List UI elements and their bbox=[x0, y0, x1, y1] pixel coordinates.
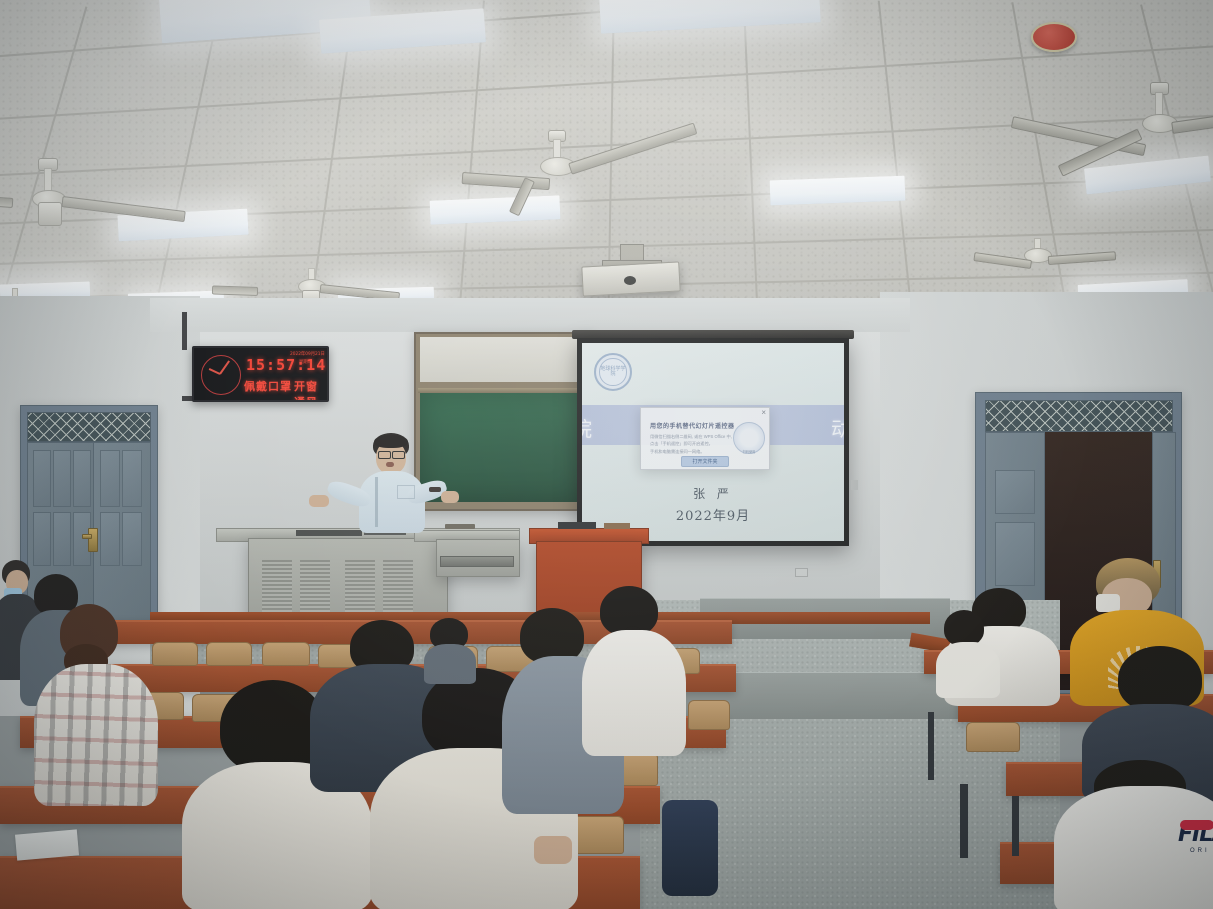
ceiling-light-panel bbox=[319, 8, 486, 53]
audience-member: FILA ORI bbox=[1038, 760, 1213, 909]
console-vent bbox=[383, 560, 413, 618]
chair-leg bbox=[1012, 796, 1019, 856]
ceiling-light-panel bbox=[117, 209, 248, 242]
door-handle-icon[interactable] bbox=[88, 528, 98, 552]
console-vent bbox=[300, 560, 330, 618]
torso bbox=[582, 630, 686, 756]
close-icon[interactable]: × bbox=[761, 409, 766, 417]
dialog-title: 用您的手机替代幻灯片遥控器 bbox=[650, 421, 735, 430]
lattice-grille-icon bbox=[986, 401, 1172, 431]
qr-code-icon[interactable]: 扫码使用 bbox=[733, 422, 765, 454]
ceiling-light-panel bbox=[770, 176, 906, 206]
face-mask-icon bbox=[1096, 594, 1120, 612]
door-panel bbox=[33, 450, 51, 507]
door-panel bbox=[122, 512, 142, 566]
door-panel bbox=[53, 512, 71, 566]
led-mount-arm bbox=[182, 312, 187, 350]
lectern-monitor bbox=[558, 522, 596, 529]
chair-leg bbox=[928, 712, 934, 780]
screen-bracket bbox=[851, 480, 858, 490]
wps-notice-dialog[interactable]: × 用您的手机替代幻灯片遥控器 用微信扫描右侧二维码, 或在 WPS Offic… bbox=[640, 407, 770, 470]
ceiling-light-panel bbox=[430, 195, 561, 224]
backpack bbox=[662, 800, 718, 896]
hair bbox=[1118, 646, 1202, 712]
door-panel bbox=[33, 512, 51, 566]
hand bbox=[534, 836, 572, 864]
chair-leg bbox=[960, 784, 968, 858]
door-left-transom bbox=[27, 412, 151, 442]
audience-member bbox=[34, 604, 154, 804]
door-panel bbox=[100, 512, 120, 566]
console-vent bbox=[345, 560, 375, 618]
door-panel bbox=[122, 450, 142, 507]
door-right-transom bbox=[985, 400, 1173, 432]
led-time: 15:57:14 bbox=[246, 356, 326, 374]
chalkboard-upper-panel bbox=[420, 337, 584, 382]
dialog-body-line-3: 手机和电脑需连接同一网络。 bbox=[650, 449, 732, 456]
speaker-mouth bbox=[386, 462, 394, 467]
podium-drawer[interactable] bbox=[440, 556, 514, 567]
led-date: 2022年09月21日 bbox=[290, 351, 325, 357]
slide-date: 2022年9月 bbox=[582, 505, 844, 524]
chair-back[interactable] bbox=[966, 722, 1020, 752]
audience-member bbox=[576, 586, 686, 761]
university-seal-icon: 地球科学学院 bbox=[594, 353, 632, 391]
door-panel bbox=[995, 522, 1035, 586]
audience-member bbox=[424, 618, 474, 678]
wristwatch-icon bbox=[429, 487, 441, 492]
speaker-at-podium bbox=[345, 433, 441, 538]
led-information-board: 15:57:14 2022年09月21日 星期三 佩戴口罩 开窗通风 bbox=[192, 346, 329, 402]
fila-logo-bar bbox=[1180, 820, 1213, 830]
chair-back[interactable] bbox=[206, 642, 252, 666]
door-latch-icon[interactable] bbox=[82, 534, 92, 539]
door-panel bbox=[53, 450, 71, 507]
torso bbox=[424, 644, 476, 684]
console-vent bbox=[262, 560, 292, 618]
wall-strip bbox=[150, 298, 910, 332]
torso bbox=[936, 642, 1000, 698]
chair-back[interactable] bbox=[688, 700, 730, 730]
dialog-body-line-2: 点击「手机遥控」即可开启遥控。 bbox=[650, 441, 732, 448]
torso-graphic-shirt bbox=[34, 664, 158, 806]
door-panel bbox=[100, 450, 120, 507]
glasses-icon bbox=[378, 451, 391, 459]
glasses-icon bbox=[392, 451, 405, 459]
chair-back[interactable] bbox=[262, 642, 310, 666]
door-panel bbox=[995, 470, 1035, 514]
chair-back[interactable] bbox=[152, 642, 198, 666]
lattice-grille-icon bbox=[28, 413, 150, 441]
door-panel bbox=[73, 450, 91, 507]
speaker-hand-right bbox=[441, 491, 459, 503]
led-weekday: 星期三 bbox=[299, 359, 312, 365]
shirt-placket bbox=[375, 477, 378, 527]
desk-item bbox=[445, 524, 475, 529]
slide-presenter-name: 张 严 bbox=[582, 485, 844, 502]
hair bbox=[944, 610, 984, 646]
fire-alarm-icon bbox=[1031, 22, 1077, 52]
lectern-item bbox=[604, 523, 630, 529]
fila-logo-sub: ORI bbox=[1190, 848, 1210, 854]
ceiling-tile-grid bbox=[0, 0, 1213, 330]
ceiling-tile-texture bbox=[0, 0, 1213, 330]
seal-inner-ring: 地球科学学院 bbox=[599, 358, 626, 385]
paper-sheet bbox=[15, 829, 79, 860]
dialog-body-line-1: 用微信扫描右侧二维码, 或在 WPS Office 中, bbox=[650, 434, 732, 441]
open-folder-button[interactable]: 打开文件夹 bbox=[681, 456, 729, 467]
seal-text: 地球科学学院 bbox=[600, 367, 625, 378]
analog-clock-icon bbox=[201, 355, 241, 395]
projection-screen: 地球科学学院 地科学院 动员大会 张 严 2022年9月 × 用您的手机替代幻灯… bbox=[582, 343, 844, 541]
audience-member bbox=[938, 610, 998, 690]
wall-outlet-icon bbox=[795, 568, 808, 577]
ceiling bbox=[0, 0, 1213, 330]
speaker-hand-left bbox=[309, 495, 329, 507]
ceiling-light-panel bbox=[158, 0, 371, 43]
led-message-left: 佩戴口罩 bbox=[244, 378, 292, 394]
lecture-hall-photo: 15:57:14 2022年09月21日 星期三 佩戴口罩 开窗通风 地球科学学… bbox=[0, 0, 1213, 909]
speaker-fringe bbox=[374, 435, 408, 448]
shirt-pocket bbox=[397, 485, 415, 499]
ceiling-light-panel bbox=[599, 0, 821, 34]
ceiling-light-panel bbox=[1084, 156, 1211, 195]
qr-caption: 扫码使用 bbox=[734, 449, 764, 454]
led-message-right: 开窗通风 bbox=[294, 378, 327, 402]
